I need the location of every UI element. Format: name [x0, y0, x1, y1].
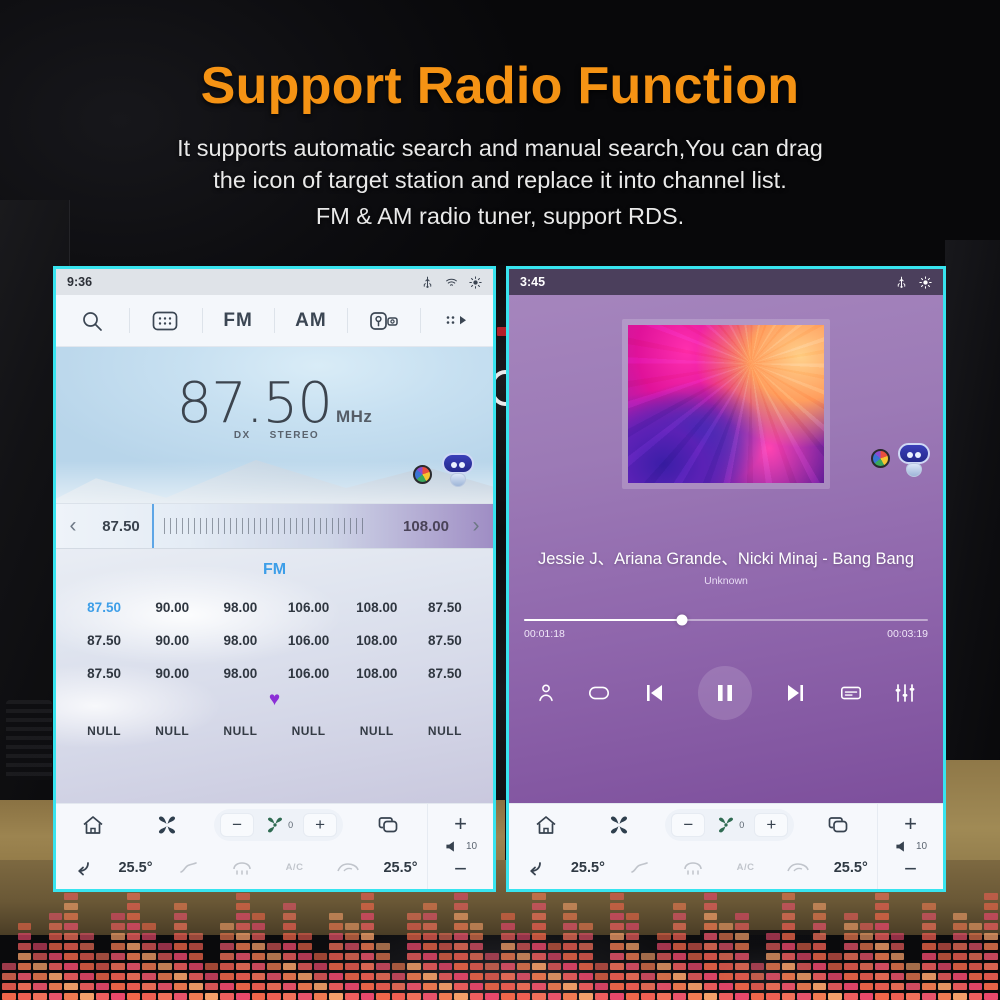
- assistant-widget[interactable]: [413, 453, 475, 489]
- pause-icon: [714, 681, 736, 705]
- brightness-icon: [919, 276, 932, 289]
- rear-defrost-button[interactable]: [667, 859, 720, 877]
- preset-item[interactable]: 106.00: [274, 633, 342, 648]
- ac-label: A/C: [737, 862, 755, 873]
- rds-icon: [369, 310, 399, 332]
- back-arrow-icon: [71, 857, 95, 879]
- recirculation-icon: [335, 859, 361, 877]
- climate-control-bar: − 0 +: [509, 803, 943, 889]
- empty-preset-item[interactable]: NULL: [70, 724, 138, 738]
- usb-icon: [421, 276, 434, 289]
- multitask-icon: [827, 814, 853, 836]
- volume-down-button[interactable]: −: [454, 858, 467, 880]
- recirculation-button[interactable]: [321, 859, 374, 877]
- music-device-screen: 3:45: [506, 266, 946, 892]
- tune-down-button[interactable]: ‹: [56, 514, 90, 538]
- preset-station-panel: FM 87.50 90.00 98.00 106.00 108.00 87.50…: [56, 549, 493, 803]
- driver-temperature[interactable]: 25.5°: [118, 860, 152, 876]
- empty-preset-item[interactable]: NULL: [138, 724, 206, 738]
- climate-control-bar: − 0 +: [56, 803, 493, 889]
- preset-item[interactable]: 87.50: [70, 666, 138, 681]
- background-right-panel: [945, 240, 1000, 780]
- preset-item[interactable]: 87.50: [70, 633, 138, 648]
- fan-mode-button[interactable]: [583, 813, 657, 837]
- music-player: Jessie J、Ariana Grande、Nicki Minaj - Ban…: [509, 295, 943, 803]
- airflow-icon: [178, 859, 200, 877]
- multitask-button[interactable]: [353, 814, 427, 836]
- home-button[interactable]: [509, 814, 583, 836]
- fan-decrease-button[interactable]: −: [220, 813, 254, 837]
- airflow-icon: [629, 859, 651, 877]
- repeat-button[interactable]: [587, 683, 611, 703]
- fan-icon: [715, 815, 737, 835]
- music-status-time: 3:45: [520, 275, 545, 289]
- music-status-bar: 3:45: [509, 269, 943, 295]
- preset-item[interactable]: 90.00: [138, 633, 206, 648]
- empty-preset-item[interactable]: NULL: [274, 724, 342, 738]
- fm-band-button[interactable]: FM: [202, 295, 275, 346]
- defrost-icon: [230, 859, 254, 877]
- recirculation-icon: [785, 859, 811, 877]
- pause-button[interactable]: [698, 666, 752, 720]
- page-description-line-3: FM & AM radio tuner, support RDS.: [0, 203, 1000, 230]
- frequency-value: 87.50: [177, 371, 332, 436]
- preset-row: 87.50 90.00 98.00 106.00 108.00 87.50: [66, 591, 483, 624]
- passenger-temperature[interactable]: 25.5°: [834, 860, 868, 876]
- total-time: 00:03:19: [887, 628, 928, 640]
- tuner-scale[interactable]: [152, 504, 393, 548]
- previous-icon: [642, 681, 668, 705]
- usb-icon: [895, 276, 908, 289]
- preset-item[interactable]: 106.00: [274, 600, 342, 615]
- repeat-icon: [587, 683, 611, 703]
- empty-preset-item[interactable]: NULL: [206, 724, 274, 738]
- previous-track-button[interactable]: [642, 681, 668, 705]
- preset-item[interactable]: 87.50: [411, 633, 479, 648]
- album-art-frame: [622, 319, 830, 489]
- preset-item[interactable]: 87.50: [411, 666, 479, 681]
- rear-defrost-button[interactable]: [215, 859, 268, 877]
- artist-button[interactable]: [535, 682, 557, 704]
- assistant-robot-icon: [897, 443, 931, 479]
- more-apps-button[interactable]: [420, 295, 493, 346]
- frequency-unit: MHz: [336, 407, 372, 426]
- search-button[interactable]: [56, 295, 129, 346]
- am-band-button[interactable]: AM: [274, 295, 347, 346]
- back-arrow-icon: [523, 857, 547, 879]
- next-icon: [782, 681, 808, 705]
- track-artist: Unknown: [704, 575, 748, 587]
- keypad-icon: [152, 310, 178, 332]
- playback-progress[interactable]: 00:01:18 00:03:19: [524, 619, 928, 640]
- tune-up-button[interactable]: ›: [459, 514, 493, 538]
- rds-button[interactable]: [347, 295, 420, 346]
- radio-status-time: 9:36: [67, 275, 92, 289]
- lyrics-icon: [839, 683, 863, 703]
- back-button[interactable]: [509, 857, 562, 879]
- passenger-temperature[interactable]: 25.5°: [383, 860, 417, 876]
- progress-thumb[interactable]: [676, 615, 687, 626]
- volume-control: + 10 −: [427, 804, 493, 889]
- ac-label: A/C: [286, 862, 304, 873]
- color-wheel-icon: [413, 465, 432, 484]
- ac-button[interactable]: A/C: [268, 862, 321, 873]
- tuner-max-value: 108.00: [393, 518, 459, 535]
- progress-fill: [524, 619, 682, 621]
- defrost-icon: [681, 859, 705, 877]
- radio-status-bar: 9:36: [56, 269, 493, 295]
- empty-preset-item[interactable]: NULL: [343, 724, 411, 738]
- volume-control: + 10 −: [877, 804, 943, 889]
- page-description: It supports automatic search and manual …: [0, 133, 1000, 197]
- preset-row: 87.50 90.00 98.00 106.00 108.00 87.50: [66, 657, 483, 690]
- tuner-min-value: 87.50: [90, 518, 152, 535]
- fan-increase-button[interactable]: +: [303, 813, 337, 837]
- home-button[interactable]: [56, 814, 130, 836]
- preset-item[interactable]: 106.00: [274, 666, 342, 681]
- equalizer-icon: [893, 682, 917, 704]
- stereo-label: STEREO: [270, 430, 320, 441]
- radio-device-screen: 9:36: [53, 266, 496, 892]
- assistant-widget[interactable]: [871, 443, 931, 479]
- fan-icon: [264, 815, 286, 835]
- fan-speed-stepper[interactable]: − 0 +: [665, 809, 794, 841]
- fan-increase-button[interactable]: +: [754, 813, 788, 837]
- preset-item[interactable]: 90.00: [138, 600, 206, 615]
- ac-button[interactable]: A/C: [719, 862, 772, 873]
- tuner-tick-marks: [164, 518, 365, 534]
- volume-level-value: 10: [466, 841, 477, 852]
- preset-item[interactable]: 108.00: [343, 666, 411, 681]
- home-icon: [534, 814, 558, 836]
- preset-item[interactable]: 90.00: [138, 666, 206, 681]
- multitask-button[interactable]: [803, 814, 877, 836]
- page-title: Support Radio Function: [0, 56, 1000, 116]
- wifi-icon: [445, 276, 458, 289]
- airflow-face-button[interactable]: [614, 859, 667, 877]
- background-air-vent: [6, 700, 52, 780]
- fan-mode-button[interactable]: [130, 813, 204, 837]
- empty-preset-row: NULL NULL NULL NULL NULL NULL: [66, 714, 483, 738]
- radio-frequency-display: 87.50MHz DX STEREO: [56, 347, 493, 503]
- fan-blades-icon: [606, 813, 632, 837]
- frequency-readout: 87.50MHz DX STEREO: [56, 371, 493, 441]
- am-band-label: AM: [295, 310, 327, 332]
- preset-item[interactable]: 87.50: [70, 600, 138, 615]
- tuner-slider-bar[interactable]: ‹ 87.50 108.00 ›: [56, 503, 493, 549]
- person-icon: [535, 682, 557, 704]
- speaker-icon: [894, 839, 911, 854]
- brightness-icon: [469, 276, 482, 289]
- preset-item[interactable]: 108.00: [343, 600, 411, 615]
- fan-decrease-button[interactable]: −: [671, 813, 705, 837]
- volume-down-button[interactable]: −: [904, 858, 917, 880]
- background-phone-shape: [700, 930, 820, 1000]
- recirculation-button[interactable]: [772, 859, 825, 877]
- more-apps-icon: [442, 311, 472, 331]
- home-icon: [81, 814, 105, 836]
- preset-band-title: FM: [66, 555, 483, 591]
- preset-row: 87.50 90.00 98.00 106.00 108.00 87.50: [66, 624, 483, 657]
- volume-up-button[interactable]: +: [904, 813, 917, 835]
- driver-temperature[interactable]: 25.5°: [571, 860, 605, 876]
- description-line-2: the icon of target station and replace i…: [0, 165, 1000, 197]
- fm-band-label: FM: [223, 310, 252, 332]
- airflow-face-button[interactable]: [162, 859, 215, 877]
- speaker-icon: [444, 839, 461, 854]
- radio-toolbar: FM AM: [56, 295, 493, 347]
- preset-item[interactable]: 98.00: [206, 666, 274, 681]
- fan-blades-icon: [154, 813, 180, 837]
- description-line-1: It supports automatic search and manual …: [0, 133, 1000, 165]
- assistant-robot-icon: [441, 453, 475, 489]
- empty-preset-item[interactable]: NULL: [411, 724, 479, 738]
- fan-level-value: 0: [288, 820, 293, 830]
- favorite-heart-icon[interactable]: ♥: [269, 689, 280, 710]
- preset-item[interactable]: 87.50: [411, 600, 479, 615]
- album-art: [628, 325, 824, 483]
- fan-speed-stepper[interactable]: − 0 +: [214, 809, 343, 841]
- dx-label: DX: [234, 430, 251, 441]
- playback-controls: [509, 666, 943, 720]
- fan-level-value: 0: [739, 820, 744, 830]
- preset-item[interactable]: 108.00: [343, 633, 411, 648]
- multitask-icon: [377, 814, 403, 836]
- lyrics-button[interactable]: [839, 683, 863, 703]
- volume-up-button[interactable]: +: [454, 813, 467, 835]
- elapsed-time: 00:01:18: [524, 628, 565, 640]
- equalizer-button[interactable]: [893, 682, 917, 704]
- search-icon: [80, 309, 104, 333]
- color-wheel-icon: [871, 449, 890, 468]
- preset-item[interactable]: 98.00: [206, 633, 274, 648]
- back-button[interactable]: [56, 857, 109, 879]
- track-title: Jessie J、Ariana Grande、Nicki Minaj - Ban…: [509, 545, 943, 569]
- volume-level-value: 10: [916, 841, 927, 852]
- preset-item[interactable]: 98.00: [206, 600, 274, 615]
- keypad-button[interactable]: [129, 295, 202, 346]
- progress-track[interactable]: [524, 619, 928, 621]
- next-track-button[interactable]: [782, 681, 808, 705]
